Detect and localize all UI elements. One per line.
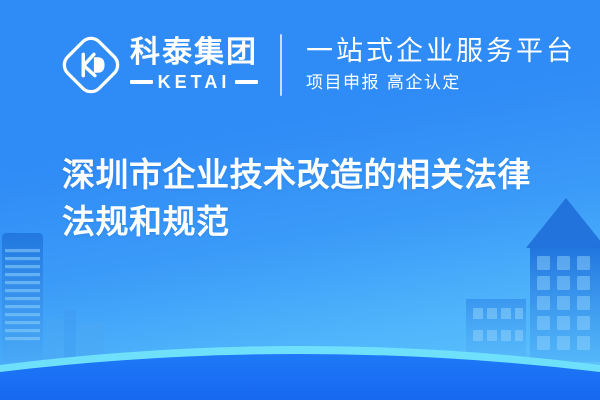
brand-wordmark: 科泰集团 KETAI	[130, 37, 258, 93]
tagline-main: 一站式企业服务平台	[306, 36, 576, 67]
wordmark-dash-left	[130, 80, 153, 84]
tagline-sub: 项目申报 高企认定	[306, 74, 576, 94]
header-divider	[280, 34, 282, 96]
wordmark-dash-right	[235, 80, 258, 84]
brand-name-cn: 科泰集团	[130, 37, 258, 69]
brand-name-en: KETAI	[158, 72, 231, 93]
skyline-left-tower-group	[2, 233, 43, 362]
banner-header: 科泰集团 KETAI 一站式企业服务平台 项目申报 高企认定	[0, 0, 600, 130]
skyline-left-low-group	[46, 310, 104, 362]
page-title: 深圳市企业技术改造的相关法律法规和规范	[62, 152, 562, 246]
brand-logo[interactable]: 科泰集团 KETAI	[62, 36, 258, 94]
kd-diamond-logo-icon	[62, 36, 120, 94]
tagline-block: 一站式企业服务平台 项目申报 高企认定	[306, 36, 576, 94]
promo-banner: 科泰集团 KETAI 一站式企业服务平台 项目申报 高企认定 深圳市企业技术改造…	[0, 0, 600, 400]
brand-name-en-row: KETAI	[130, 72, 258, 93]
